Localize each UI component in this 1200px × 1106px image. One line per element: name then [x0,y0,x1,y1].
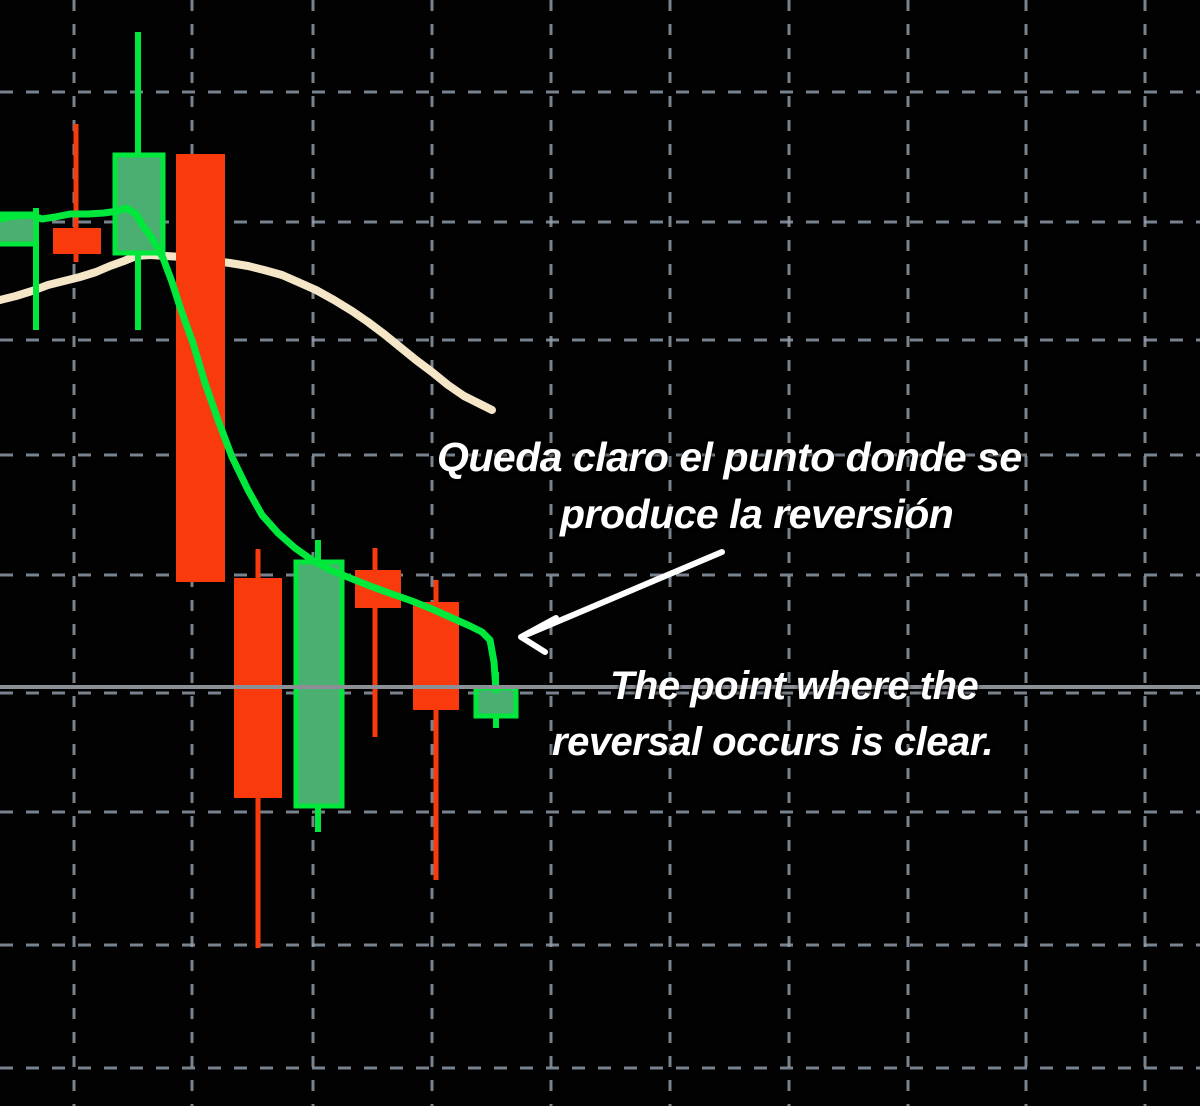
candle-body [53,228,101,254]
english-caption-line-1: The point where the [610,662,978,710]
spanish-caption-line-1: Queda claro el punto donde se [437,433,1022,481]
candle-6 [355,548,401,737]
candle-4 [234,549,282,948]
english-caption-line-2: reversal occurs is clear. [552,718,993,766]
spanish-caption-line-2: produce la reversión [560,490,953,538]
candle-1 [53,124,101,262]
candle-2 [115,32,163,330]
candle-7 [413,580,459,880]
candle-0 [0,208,36,330]
candlestick-chart: Queda claro el punto donde se produce la… [0,0,1200,1106]
slow-moving-average-line [0,255,492,410]
candle-body [296,562,342,806]
chart-series [0,0,1200,1106]
